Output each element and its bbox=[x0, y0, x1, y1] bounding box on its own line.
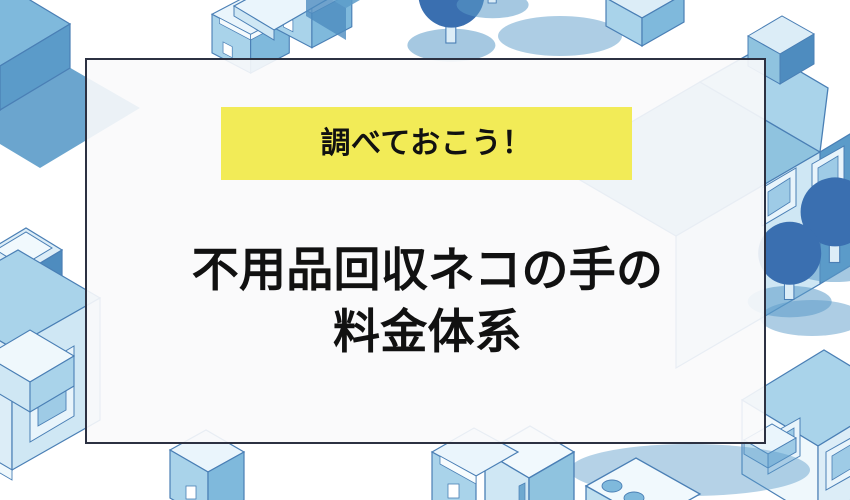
headline-line-2: 料金体系 bbox=[87, 302, 768, 364]
page-title: 不用品回収ネコの手の 料金体系 bbox=[87, 240, 768, 364]
banner-stage: 調べておこう！ 不用品回収ネコの手の 料金体系 bbox=[0, 0, 850, 500]
eyebrow-text: 調べておこう！ bbox=[320, 129, 532, 159]
headline-line-1: 不用品回収ネコの手の bbox=[87, 240, 768, 302]
shadow-top bbox=[498, 16, 622, 56]
banner-card: 調べておこう！ 不用品回収ネコの手の 料金体系 bbox=[85, 58, 766, 444]
eyebrow-highlight-band: 調べておこう！ bbox=[221, 107, 632, 180]
